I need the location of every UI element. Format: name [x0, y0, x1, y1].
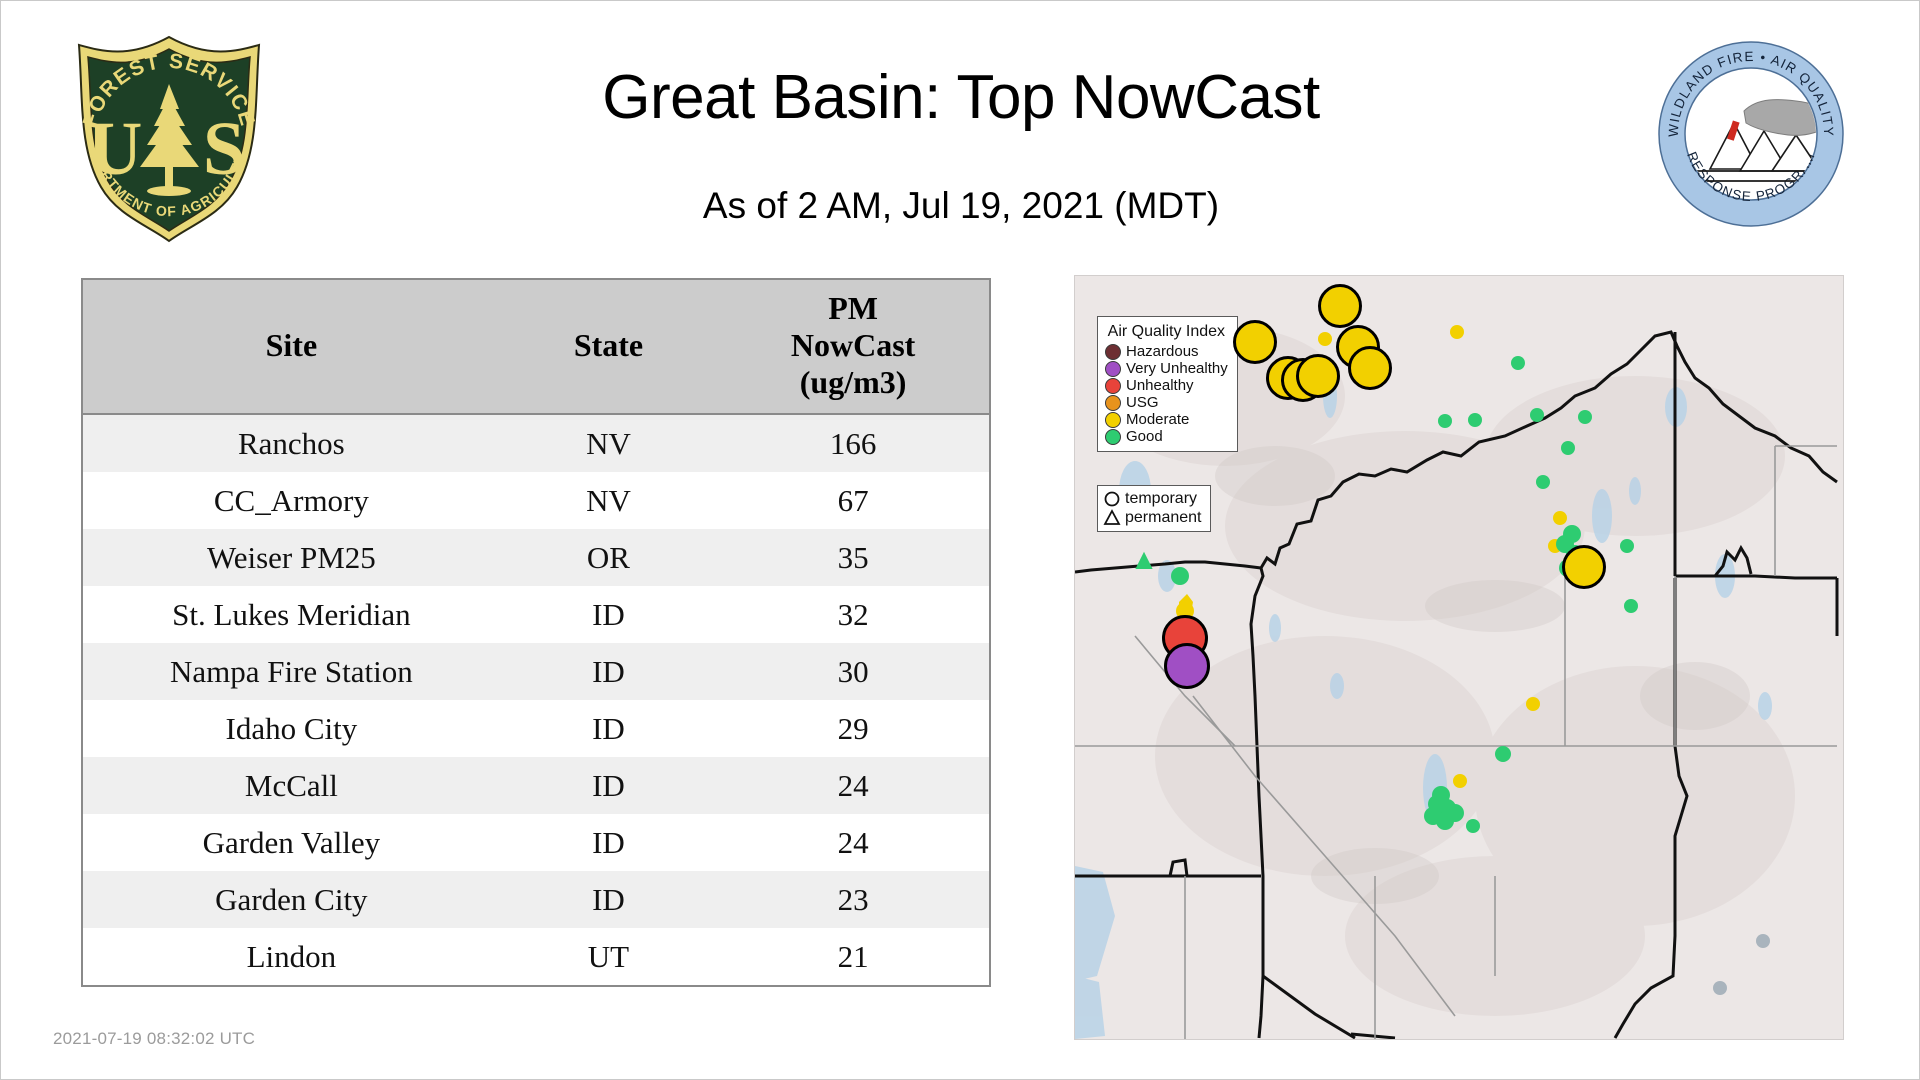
cell-value: 67 [717, 472, 989, 529]
station-marker[interactable] [1578, 410, 1592, 424]
cell-site: CC_Armory [83, 472, 500, 529]
station-marker[interactable] [1511, 356, 1525, 370]
station-marker[interactable] [1530, 408, 1544, 422]
table-body: RanchosNV166CC_ArmoryNV67Weiser PM25OR35… [83, 414, 989, 985]
table-row: RanchosNV166 [83, 414, 989, 472]
cell-site: St. Lukes Meridian [83, 586, 500, 643]
table-row: Idaho CityID29 [83, 700, 989, 757]
station-marker[interactable] [1438, 414, 1452, 428]
aqi-legend: Air Quality Index HazardousVery Unhealth… [1097, 316, 1238, 452]
aqi-legend-swatch-icon [1105, 344, 1121, 360]
column-header-pm-nowcast: PM NowCast (ug/m3) [717, 280, 989, 414]
cell-state: ID [500, 814, 717, 871]
table-row: McCallID24 [83, 757, 989, 814]
station-marker[interactable] [1466, 819, 1480, 833]
nowcast-table-container: Site State PM NowCast (ug/m3) RanchosNV1… [81, 278, 991, 987]
cell-state: ID [500, 700, 717, 757]
nowcast-table: Site State PM NowCast (ug/m3) RanchosNV1… [83, 280, 989, 985]
table-row: Nampa Fire StationID30 [83, 643, 989, 700]
aqi-legend-label: Moderate [1126, 412, 1189, 428]
cell-site: Ranchos [83, 414, 500, 472]
station-marker[interactable] [1553, 511, 1567, 525]
cell-value: 30 [717, 643, 989, 700]
circle-outline-icon [1102, 490, 1122, 508]
aqi-legend-swatch-icon [1105, 412, 1121, 428]
cell-value: 35 [717, 529, 989, 586]
column-header-site: Site [83, 280, 500, 414]
aqi-legend-swatch-icon [1105, 361, 1121, 377]
cell-state: ID [500, 757, 717, 814]
station-marker[interactable] [1171, 567, 1189, 585]
table-header: Site State PM NowCast (ug/m3) [83, 280, 989, 414]
aqi-legend-label: Unhealthy [1126, 378, 1194, 394]
aqi-legend-item: Moderate [1105, 411, 1228, 428]
station-marker[interactable] [1624, 599, 1638, 613]
cell-site: Nampa Fire Station [83, 643, 500, 700]
table-row: Weiser PM25OR35 [83, 529, 989, 586]
station-marker[interactable] [1450, 325, 1464, 339]
site-type-temporary: temporary [1102, 489, 1202, 508]
cell-state: ID [500, 586, 717, 643]
table-row: Garden ValleyID24 [83, 814, 989, 871]
station-marker[interactable] [1233, 320, 1277, 364]
table-header-row: Site State PM NowCast (ug/m3) [83, 280, 989, 414]
air-quality-map[interactable]: Air Quality Index HazardousVery Unhealth… [1074, 275, 1844, 1040]
table-row: St. Lukes MeridianID32 [83, 586, 989, 643]
aqi-legend-label: USG [1126, 395, 1159, 411]
cell-state: UT [500, 928, 717, 985]
aqi-legend-item: Unhealthy [1105, 377, 1228, 394]
station-marker[interactable] [1468, 413, 1482, 427]
station-marker[interactable] [1318, 332, 1332, 346]
station-marker[interactable] [1164, 643, 1210, 689]
station-marker[interactable] [1296, 354, 1340, 398]
station-marker[interactable] [1620, 539, 1634, 553]
page-title: Great Basin: Top NowCast [1, 63, 1920, 133]
cell-value: 21 [717, 928, 989, 985]
site-type-permanent: permanent [1102, 508, 1202, 527]
table-row: Garden CityID23 [83, 871, 989, 928]
station-marker[interactable] [1348, 346, 1392, 390]
table-row: LindonUT21 [83, 928, 989, 985]
aqi-legend-label: Good [1126, 429, 1163, 445]
cell-value: 166 [717, 414, 989, 472]
aqi-legend-title: Air Quality Index [1105, 322, 1228, 341]
cell-site: Idaho City [83, 700, 500, 757]
cell-value: 29 [717, 700, 989, 757]
column-header-line-2: NowCast [721, 327, 985, 364]
column-header-line-1: PM [721, 290, 985, 327]
station-marker[interactable] [1561, 441, 1575, 455]
station-marker[interactable] [1432, 786, 1450, 804]
aqi-legend-label: Hazardous [1126, 344, 1199, 360]
aqi-legend-item: Good [1105, 428, 1228, 445]
station-marker[interactable] [1536, 475, 1550, 489]
aqi-legend-item: Hazardous [1105, 343, 1228, 360]
station-marker[interactable] [1526, 697, 1540, 711]
aqi-legend-item: USG [1105, 394, 1228, 411]
site-type-legend: temporary permanent [1097, 485, 1211, 532]
station-marker[interactable] [1495, 746, 1511, 762]
aqi-legend-swatch-icon [1105, 429, 1121, 445]
cell-site: Garden Valley [83, 814, 500, 871]
cell-state: OR [500, 529, 717, 586]
station-marker[interactable] [1562, 545, 1606, 589]
cell-site: McCall [83, 757, 500, 814]
cell-state: NV [500, 414, 717, 472]
cell-value: 23 [717, 871, 989, 928]
cell-state: ID [500, 871, 717, 928]
aqi-legend-swatch-icon [1105, 378, 1121, 394]
cell-value: 32 [717, 586, 989, 643]
generated-timestamp: 2021-07-19 08:32:02 UTC [53, 1029, 255, 1049]
triangle-outline-icon [1102, 509, 1122, 527]
cell-site: Lindon [83, 928, 500, 985]
table-row: CC_ArmoryNV67 [83, 472, 989, 529]
aqi-legend-item: Very Unhealthy [1105, 360, 1228, 377]
wfaqrp-logo: WILDLAND FIRE • AIR QUALITY RESPONSE PRO… [1656, 39, 1846, 229]
aqi-legend-label: Very Unhealthy [1126, 361, 1228, 377]
site-type-permanent-label: permanent [1125, 509, 1202, 526]
cell-value: 24 [717, 757, 989, 814]
column-header-line-3: (ug/m3) [721, 364, 985, 401]
cell-site: Weiser PM25 [83, 529, 500, 586]
station-marker[interactable] [1318, 284, 1362, 328]
column-header-state: State [500, 280, 717, 414]
site-type-temporary-label: temporary [1125, 490, 1197, 507]
wfaqrp-circle-icon: WILDLAND FIRE • AIR QUALITY RESPONSE PRO… [1656, 39, 1846, 229]
station-marker[interactable] [1453, 774, 1467, 788]
page-subtitle: As of 2 AM, Jul 19, 2021 (MDT) [1, 185, 1920, 227]
cell-site: Garden City [83, 871, 500, 928]
cell-value: 24 [717, 814, 989, 871]
cell-state: NV [500, 472, 717, 529]
station-marker[interactable] [1446, 804, 1464, 822]
slide-canvas: FOREST SERVICE DEPARTMENT OF AGRICULTURE… [0, 0, 1920, 1080]
cell-state: ID [500, 643, 717, 700]
aqi-legend-swatch-icon [1105, 395, 1121, 411]
station-marker[interactable] [1563, 525, 1581, 543]
